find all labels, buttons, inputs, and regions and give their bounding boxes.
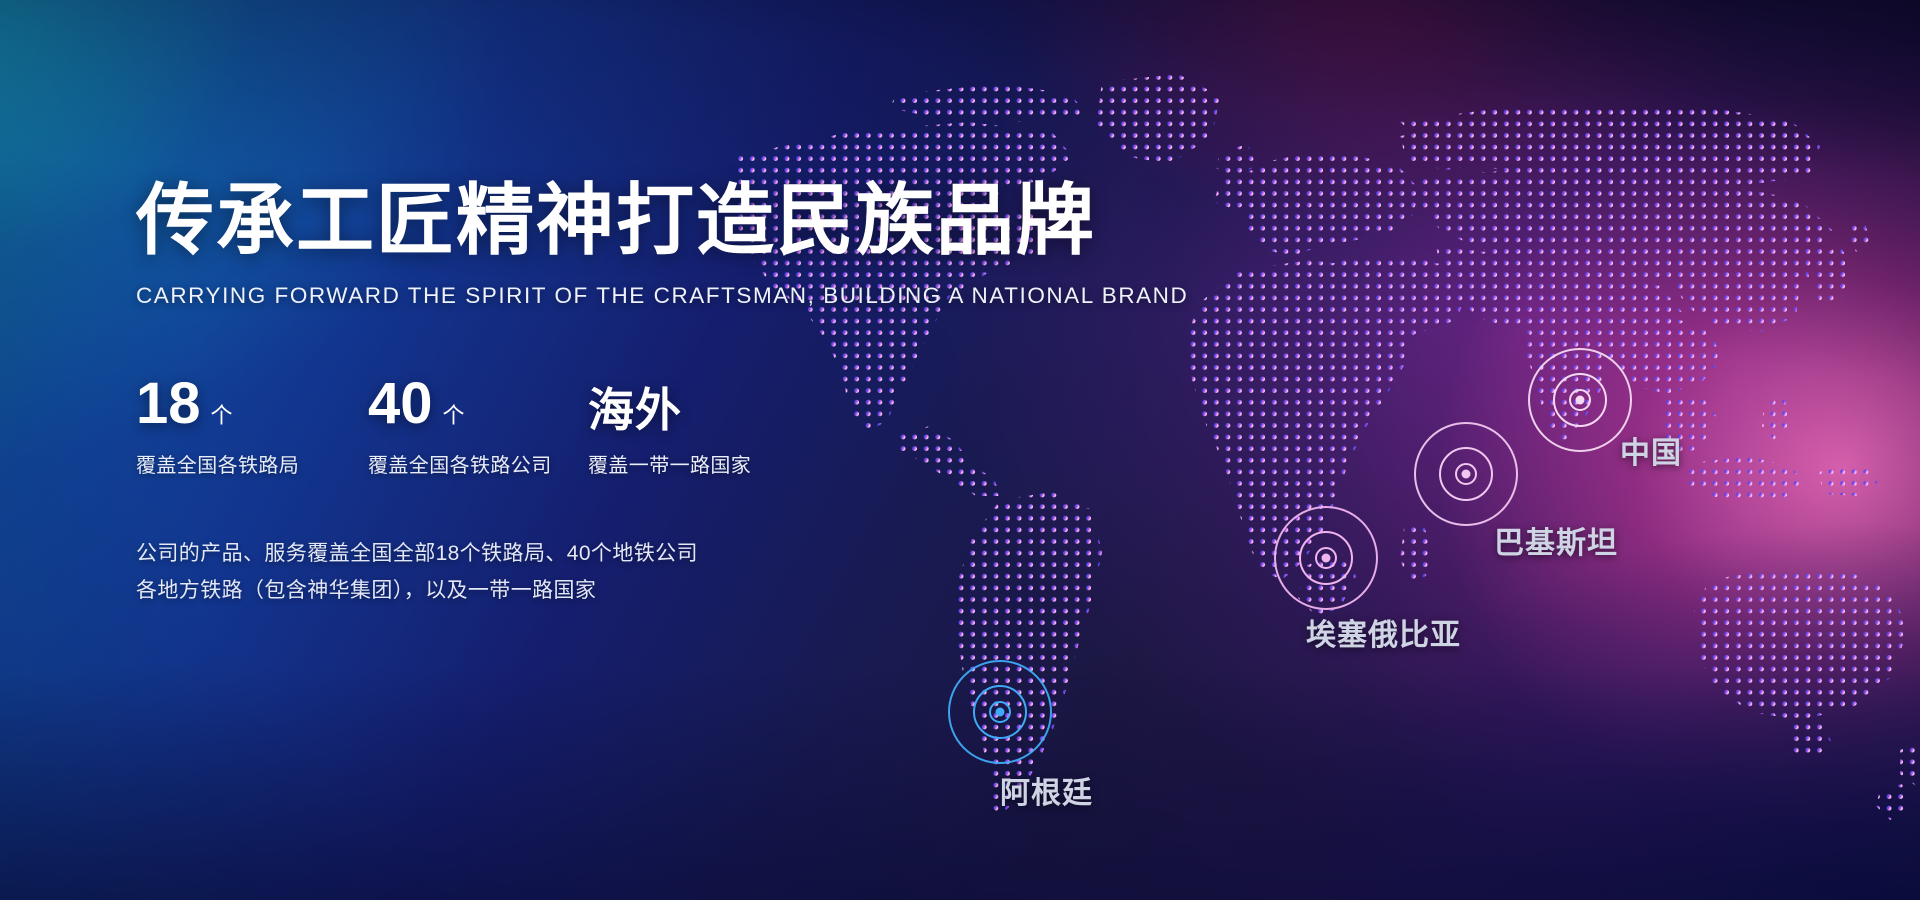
stat-item: 40个覆盖全国各铁路公司	[368, 371, 588, 478]
stat-unit: 个	[443, 405, 465, 427]
body-copy-line: 各地方铁路（包含神华集团），以及一带一路国家	[136, 573, 1116, 610]
stats-row: 18个覆盖全国各铁路局40个覆盖全国各铁路公司海外覆盖一带一路国家	[136, 371, 1116, 478]
stat-description: 覆盖全国各铁路局	[136, 449, 368, 478]
hero-banner: 中国巴基斯坦埃塞俄比亚阿根廷 传承工匠精神打造民族品牌 CARRYING FOR…	[0, 0, 1920, 900]
stat-unit: 个	[211, 405, 233, 427]
body-copy-line: 公司的产品、服务覆盖全国全部18个铁路局、40个地铁公司	[136, 536, 1116, 573]
stat-item: 18个覆盖全国各铁路局	[136, 371, 368, 478]
stat-description: 覆盖全国各铁路公司	[368, 449, 588, 478]
body-copy: 公司的产品、服务覆盖全国全部18个铁路局、40个地铁公司各地方铁路（包含神华集团…	[136, 536, 1116, 610]
stat-number: 40	[368, 375, 433, 433]
stat-value-row: 40个	[368, 371, 588, 433]
stat-value-row: 18个	[136, 371, 368, 433]
page-subtitle: CARRYING FORWARD THE SPIRIT OF THE CRAFT…	[136, 283, 1116, 309]
hero-content: 传承工匠精神打造民族品牌 CARRYING FORWARD THE SPIRIT…	[136, 180, 1116, 610]
stat-description: 覆盖一带一路国家	[588, 449, 751, 478]
stat-item: 海外覆盖一带一路国家	[588, 371, 751, 478]
stat-number: 海外	[588, 387, 682, 433]
page-title: 传承工匠精神打造民族品牌	[136, 180, 1116, 261]
stat-number: 18	[136, 375, 201, 433]
stat-value-row: 海外	[588, 371, 751, 433]
